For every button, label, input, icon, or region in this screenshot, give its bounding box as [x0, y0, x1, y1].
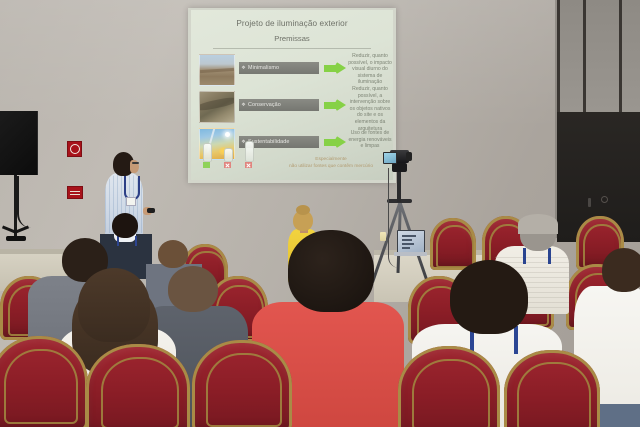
speaker-cable	[17, 176, 31, 228]
screen-line	[402, 239, 412, 241]
attendee-back-row-head	[112, 213, 138, 238]
door-lock-icon	[601, 196, 608, 203]
green-right-arrow-icon	[324, 135, 346, 149]
slide-divider	[213, 48, 371, 49]
panel-seam-mid	[583, 0, 586, 112]
wall-panel-right	[557, 0, 640, 112]
tripod-head	[392, 163, 407, 172]
attendee-curly-hair-head	[288, 230, 374, 312]
slide-row: ❖ Minimalismo Reduzir, quanto possível, …	[191, 54, 393, 86]
attendee-white-shirt-head	[450, 260, 528, 334]
projection-screen: Projeto de iluminação exterior Premissas…	[191, 10, 393, 180]
bullet-icon: ❖	[239, 65, 248, 71]
alarm-bell-icon	[70, 144, 80, 154]
row-description: Reduzir, quanto possível, a intervenção …	[348, 86, 392, 132]
attendee-hair-bun	[296, 205, 310, 215]
panel-seam-left	[557, 0, 560, 112]
screen-line	[402, 235, 416, 237]
attendee-right-tshirt-head	[602, 248, 640, 292]
presentation-clicker	[147, 208, 155, 213]
attendee-mid-row-head	[158, 240, 188, 268]
slide-row: ❖ Conservação Reduzir, quanto possível, …	[191, 91, 393, 123]
chair-front-row	[398, 346, 500, 427]
pa-speaker	[0, 111, 38, 175]
laptop-keyboard-base	[394, 252, 427, 256]
slide-footnote: Especialmente não utilizar fontes que co…	[277, 157, 385, 170]
screen-line	[402, 247, 410, 249]
attendee-grey-jacket-head	[168, 266, 218, 312]
sun-icon	[225, 132, 230, 137]
bullet-icon: ❖	[239, 102, 248, 108]
fire-extinguisher-sign	[67, 186, 83, 199]
screen-line	[402, 243, 414, 245]
thumbnail-aerial-site	[199, 91, 235, 123]
row-label-text: Minimalismo	[248, 65, 279, 71]
drinking-cup	[380, 232, 386, 241]
row-label-box: ❖ Minimalismo	[239, 62, 319, 74]
camera-lens	[406, 152, 412, 161]
conference-room-photo: Projeto de iluminação exterior Premissas…	[0, 0, 640, 427]
row-label-text: Conservação	[248, 102, 281, 108]
lamp-glass	[245, 141, 254, 162]
chair-front-row	[86, 344, 190, 427]
presenter-glasses	[132, 162, 139, 164]
lamp-fluorescent-2	[245, 141, 254, 167]
camera-lcd-screen	[383, 152, 397, 164]
lamp-mark-ok	[203, 162, 210, 168]
chair-front-row	[192, 340, 292, 427]
wall-corner-edge	[555, 0, 557, 238]
sign-line-2	[70, 194, 80, 195]
fire-alarm-sign	[67, 141, 82, 157]
slide-title: Projeto de iluminação exterior	[191, 19, 393, 28]
slide-subtitle: Premissas	[191, 34, 393, 43]
footnote-line-2: não utilizar fontes que contêm mercúrio	[277, 164, 385, 170]
row-description: Uso de fontes de energia renováveis e li…	[348, 130, 392, 150]
green-right-arrow-icon	[324, 98, 346, 112]
lamp-mark-forbidden	[245, 162, 252, 168]
presenter-badge	[126, 197, 136, 206]
laptop-screen	[397, 230, 425, 254]
attendee-long-hair-head	[78, 268, 150, 342]
lamp-glass	[224, 148, 233, 162]
lamp-led	[203, 143, 212, 167]
thumbnail-desert-landscape	[199, 54, 235, 86]
speaker-stand-base	[6, 236, 26, 241]
row-label-box: ❖ Conservação	[239, 99, 319, 111]
slide-content: Projeto de iluminação exterior Premissas…	[191, 10, 393, 180]
door-handle[interactable]	[588, 198, 591, 207]
lamp-fluorescent-1	[224, 148, 233, 167]
lamp-glass	[203, 143, 212, 162]
lamp-mark-forbidden	[224, 162, 231, 168]
green-right-arrow-icon	[324, 61, 346, 75]
table-edge	[0, 249, 72, 254]
panel-seam-right	[619, 0, 622, 112]
row-description: Reduzir, quanto possível, o impacto visu…	[348, 53, 392, 86]
lamp-comparison-group	[201, 138, 261, 174]
chair-front-row	[504, 350, 600, 427]
chair-front-row	[0, 336, 88, 427]
sign-line-1	[70, 191, 80, 192]
chair-back-row	[430, 218, 476, 270]
attendee-grey-hair	[518, 214, 558, 234]
